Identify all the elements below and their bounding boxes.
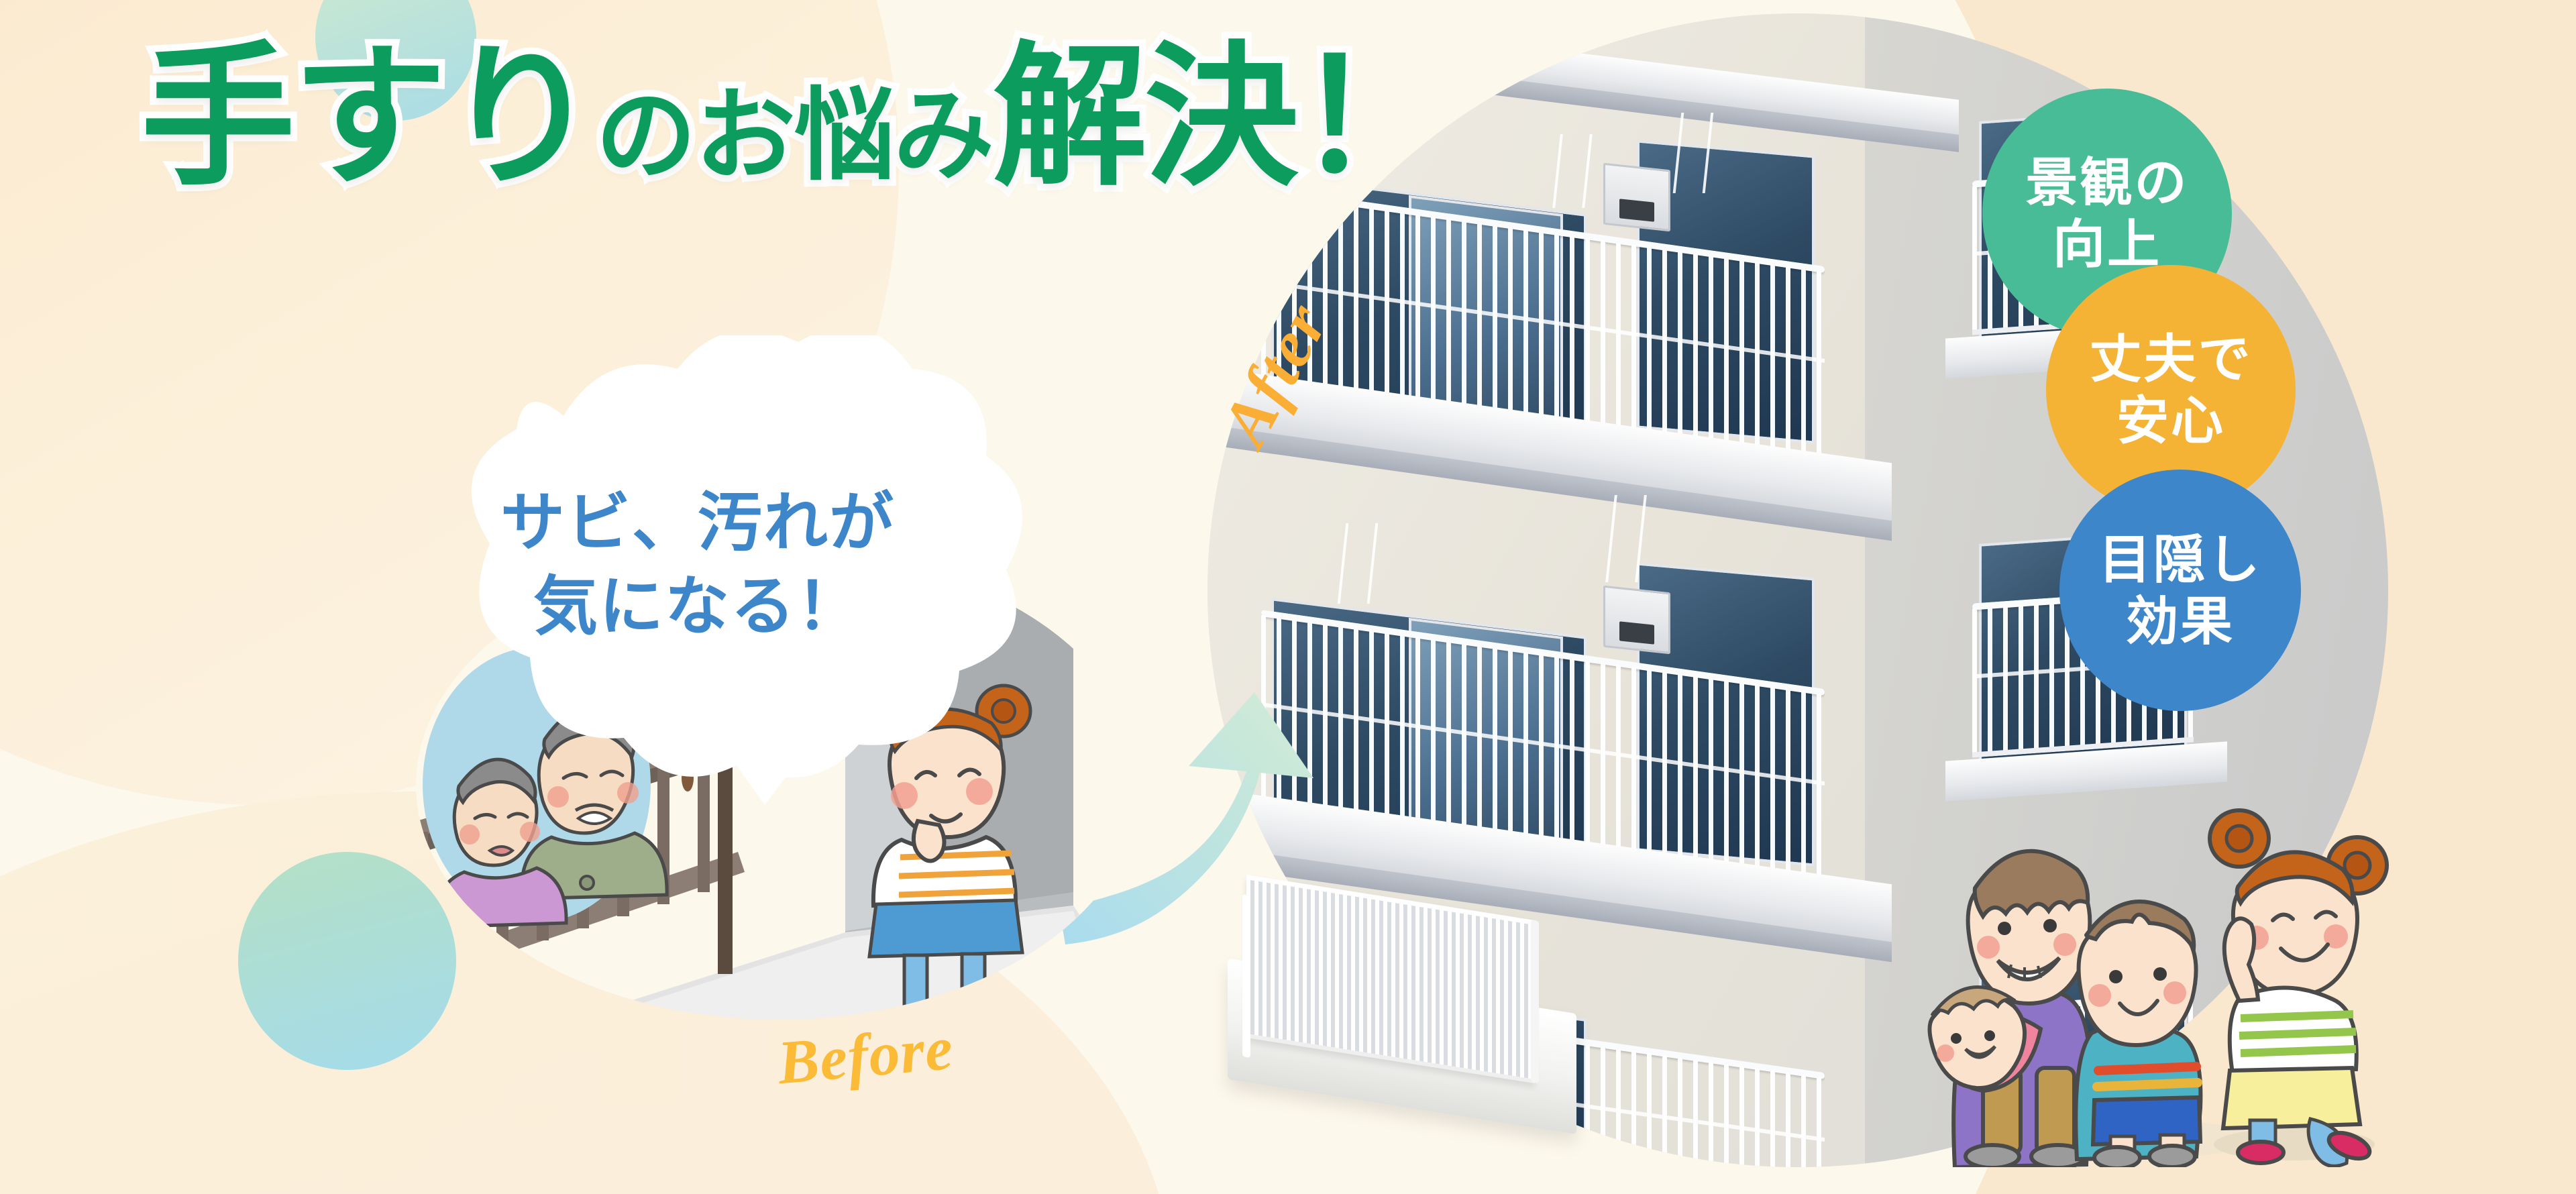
badge-2-line-2: 安心 bbox=[2089, 390, 2252, 451]
speech-bubble-text: サビ、汚れが 気になる！ bbox=[362, 482, 1033, 649]
badge-3-line-1: 目隠し bbox=[2098, 529, 2261, 590]
page-title: 手すりのお悩み解決！ bbox=[141, 40, 1952, 195]
headline-part-2: のお悩み bbox=[596, 79, 993, 192]
badge-3-line-2: 効果 bbox=[2098, 590, 2261, 652]
speech-bubble: サビ、汚れが 気になる！ bbox=[362, 335, 1033, 818]
speech-line-1: サビ、汚れが bbox=[500, 487, 895, 559]
badge-1-line-1: 景観の bbox=[2025, 152, 2188, 213]
banner-root: サビ、汚れが 気になる！ 手すりのお悩み解決！ Before After bbox=[0, 0, 2576, 1194]
speech-line-2: 気になる！ bbox=[533, 571, 862, 643]
badge-2-line-1: 丈夫で bbox=[2089, 328, 2252, 390]
headline-part-3: 解決！ bbox=[993, 31, 1448, 203]
headline-part-1: 手すり bbox=[141, 31, 596, 203]
badge-privacy-effect[interactable]: 目隠し 効果 bbox=[2059, 470, 2301, 711]
family-illustration bbox=[1919, 765, 2415, 1167]
